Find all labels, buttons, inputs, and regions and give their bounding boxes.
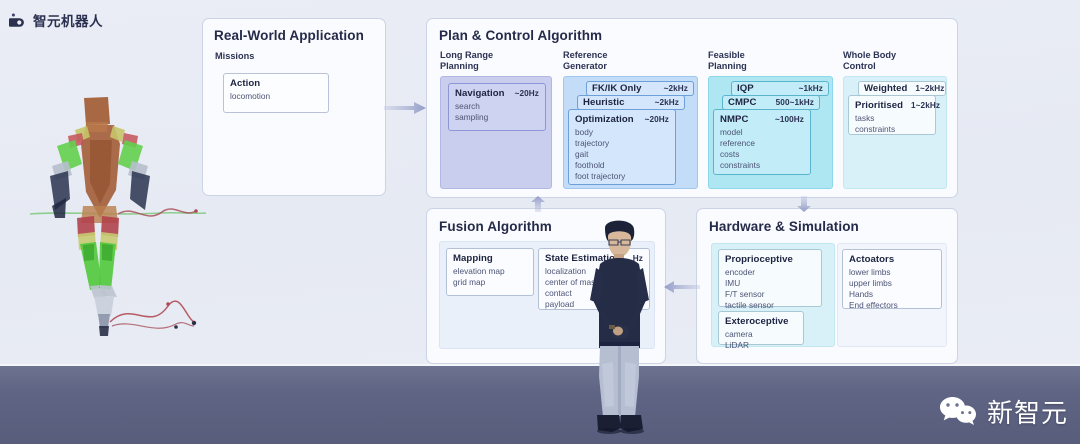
arrow-rwa-to-plan — [384, 100, 428, 116]
panel-hardware-simulation: Hardware & Simulation Proprioceptive enc… — [696, 208, 958, 364]
panel-title-real-world-application: Real-World Application — [214, 28, 364, 43]
box-name-proprioceptive: Proprioceptive — [725, 254, 793, 265]
brand-logo: 智元机器人 — [8, 10, 103, 30]
group-sensors: Proprioceptive encoder IMU F/T sensor ta… — [711, 243, 835, 347]
box-freq-fk-ik-only: ~2kHz — [664, 84, 688, 93]
box-actoators[interactable]: Actoators lower limbs upper limbs Hands … — [842, 249, 942, 309]
box-items-nmpc: model reference costs constraints — [720, 127, 804, 171]
box-freq-optimization: ~20Hz — [645, 115, 669, 124]
box-name-heuristic: Heuristic — [583, 97, 625, 108]
box-nmpc[interactable]: NMPC ~100Hz model reference costs constr… — [713, 109, 811, 175]
wechat-icon — [939, 395, 979, 429]
box-action[interactable]: Action locomotion — [223, 73, 329, 113]
box-items-mapping: elevation map grid map — [453, 266, 527, 288]
box-name-exteroceptive: Exteroceptive — [725, 316, 789, 327]
box-freq-nmpc: ~100Hz — [775, 115, 804, 124]
box-proprioceptive[interactable]: Proprioceptive encoder IMU F/T sensor ta… — [718, 249, 822, 307]
presentation-stage-scene: 智元机器人 — [0, 0, 1080, 444]
box-name-prioritised: Prioritised — [855, 100, 903, 111]
box-items-actoators: lower limbs upper limbs Hands End effect… — [849, 267, 935, 311]
group-whole-body-control: Weighted 1~2kHz Prioritised 1~2kHz tasks… — [843, 76, 947, 189]
box-cmpc[interactable]: CMPC 500~1kHz — [722, 95, 820, 110]
arrow-fusion-to-plan — [530, 196, 546, 212]
box-name-navigation: Navigation — [455, 88, 505, 99]
group-long-range-planning: Navigation ~20Hz search sampling — [440, 76, 552, 189]
box-freq-weighted: 1~2kHz — [915, 84, 944, 93]
box-freq-iqp: ~1kHz — [799, 84, 823, 93]
box-exteroceptive[interactable]: Exteroceptive camera LiDAR — [718, 311, 804, 345]
panel-real-world-application: Real-World Application Missions Action l… — [202, 18, 386, 196]
arrow-hardware-to-fusion — [664, 279, 700, 295]
box-iqp[interactable]: IQP ~1kHz — [731, 81, 829, 96]
humanoid-robot-skeleton-visualization — [28, 92, 208, 344]
box-name-cmpc: CMPC — [728, 97, 756, 108]
box-items-proprioceptive: encoder IMU F/T sensor tactile sensor — [725, 267, 815, 311]
sub-label-long-range-planning: Long Range Planning — [440, 50, 493, 72]
box-name-weighted: Weighted — [864, 83, 907, 94]
box-name-iqp: IQP — [737, 83, 754, 94]
box-name-actoators: Actoators — [849, 254, 894, 265]
group-feasible-planning: IQP ~1kHz CMPC 500~1kHz NMPC ~100Hz — [708, 76, 833, 189]
arrow-plan-to-hardware — [796, 196, 812, 212]
box-prioritised[interactable]: Prioritised 1~2kHz tasks constraints — [848, 95, 936, 135]
box-navigation[interactable]: Navigation ~20Hz search sampling — [448, 83, 546, 131]
box-freq-heuristic: ~2kHz — [655, 98, 679, 107]
box-name-action: Action — [230, 78, 260, 89]
panel-title-hardware-simulation: Hardware & Simulation — [709, 219, 859, 234]
box-fk-ik-only[interactable]: FK/IK Only ~2kHz — [586, 81, 694, 96]
sub-label-missions: Missions — [215, 51, 254, 62]
box-items-optimization: body trajectory gait foothold foot traje… — [575, 127, 669, 183]
stage-floor — [0, 366, 1080, 444]
watermark-text: 新智元 — [987, 393, 1068, 430]
sub-label-feasible-planning: Feasible Planning — [708, 50, 747, 72]
box-heuristic[interactable]: Heuristic ~2kHz — [577, 95, 685, 110]
watermark-xinzhiyuan: 新智元 — [939, 393, 1068, 430]
agibot-logo-icon — [8, 13, 27, 28]
box-freq-navigation: ~20Hz — [515, 89, 539, 98]
box-items-navigation: search sampling — [455, 101, 539, 123]
box-name-optimization: Optimization — [575, 114, 634, 125]
panel-title-fusion-algorithm: Fusion Algorithm — [439, 219, 552, 234]
box-name-nmpc: NMPC — [720, 114, 748, 125]
box-mapping[interactable]: Mapping elevation map grid map — [446, 248, 534, 296]
box-freq-cmpc: 500~1kHz — [776, 98, 814, 107]
sub-label-reference-generator: Reference Generator — [563, 50, 607, 72]
box-name-mapping: Mapping — [453, 253, 493, 264]
group-reference-generator: FK/IK Only ~2kHz Heuristic ~2kHz Optimiz… — [563, 76, 698, 189]
box-freq-prioritised: 1~2kHz — [911, 101, 940, 110]
panel-plan-control-algorithm: Plan & Control Algorithm Long Range Plan… — [426, 18, 958, 198]
presenter-standing-figure — [578, 216, 662, 444]
brand-name: 智元机器人 — [33, 10, 103, 30]
sub-label-whole-body-control: Whole Body Control — [843, 50, 896, 72]
box-items-action: locomotion — [230, 91, 322, 102]
box-weighted[interactable]: Weighted 1~2kHz — [858, 81, 946, 96]
panel-title-plan-control-algorithm: Plan & Control Algorithm — [439, 28, 602, 43]
group-actuators: Actoators lower limbs upper limbs Hands … — [837, 243, 947, 347]
box-name-fk-ik-only: FK/IK Only — [592, 83, 642, 94]
box-items-exteroceptive: camera LiDAR — [725, 329, 797, 351]
stage-floor-edge-line — [0, 364, 1080, 366]
box-optimization[interactable]: Optimization ~20Hz body trajectory gait … — [568, 109, 676, 185]
box-items-prioritised: tasks constraints — [855, 113, 929, 135]
